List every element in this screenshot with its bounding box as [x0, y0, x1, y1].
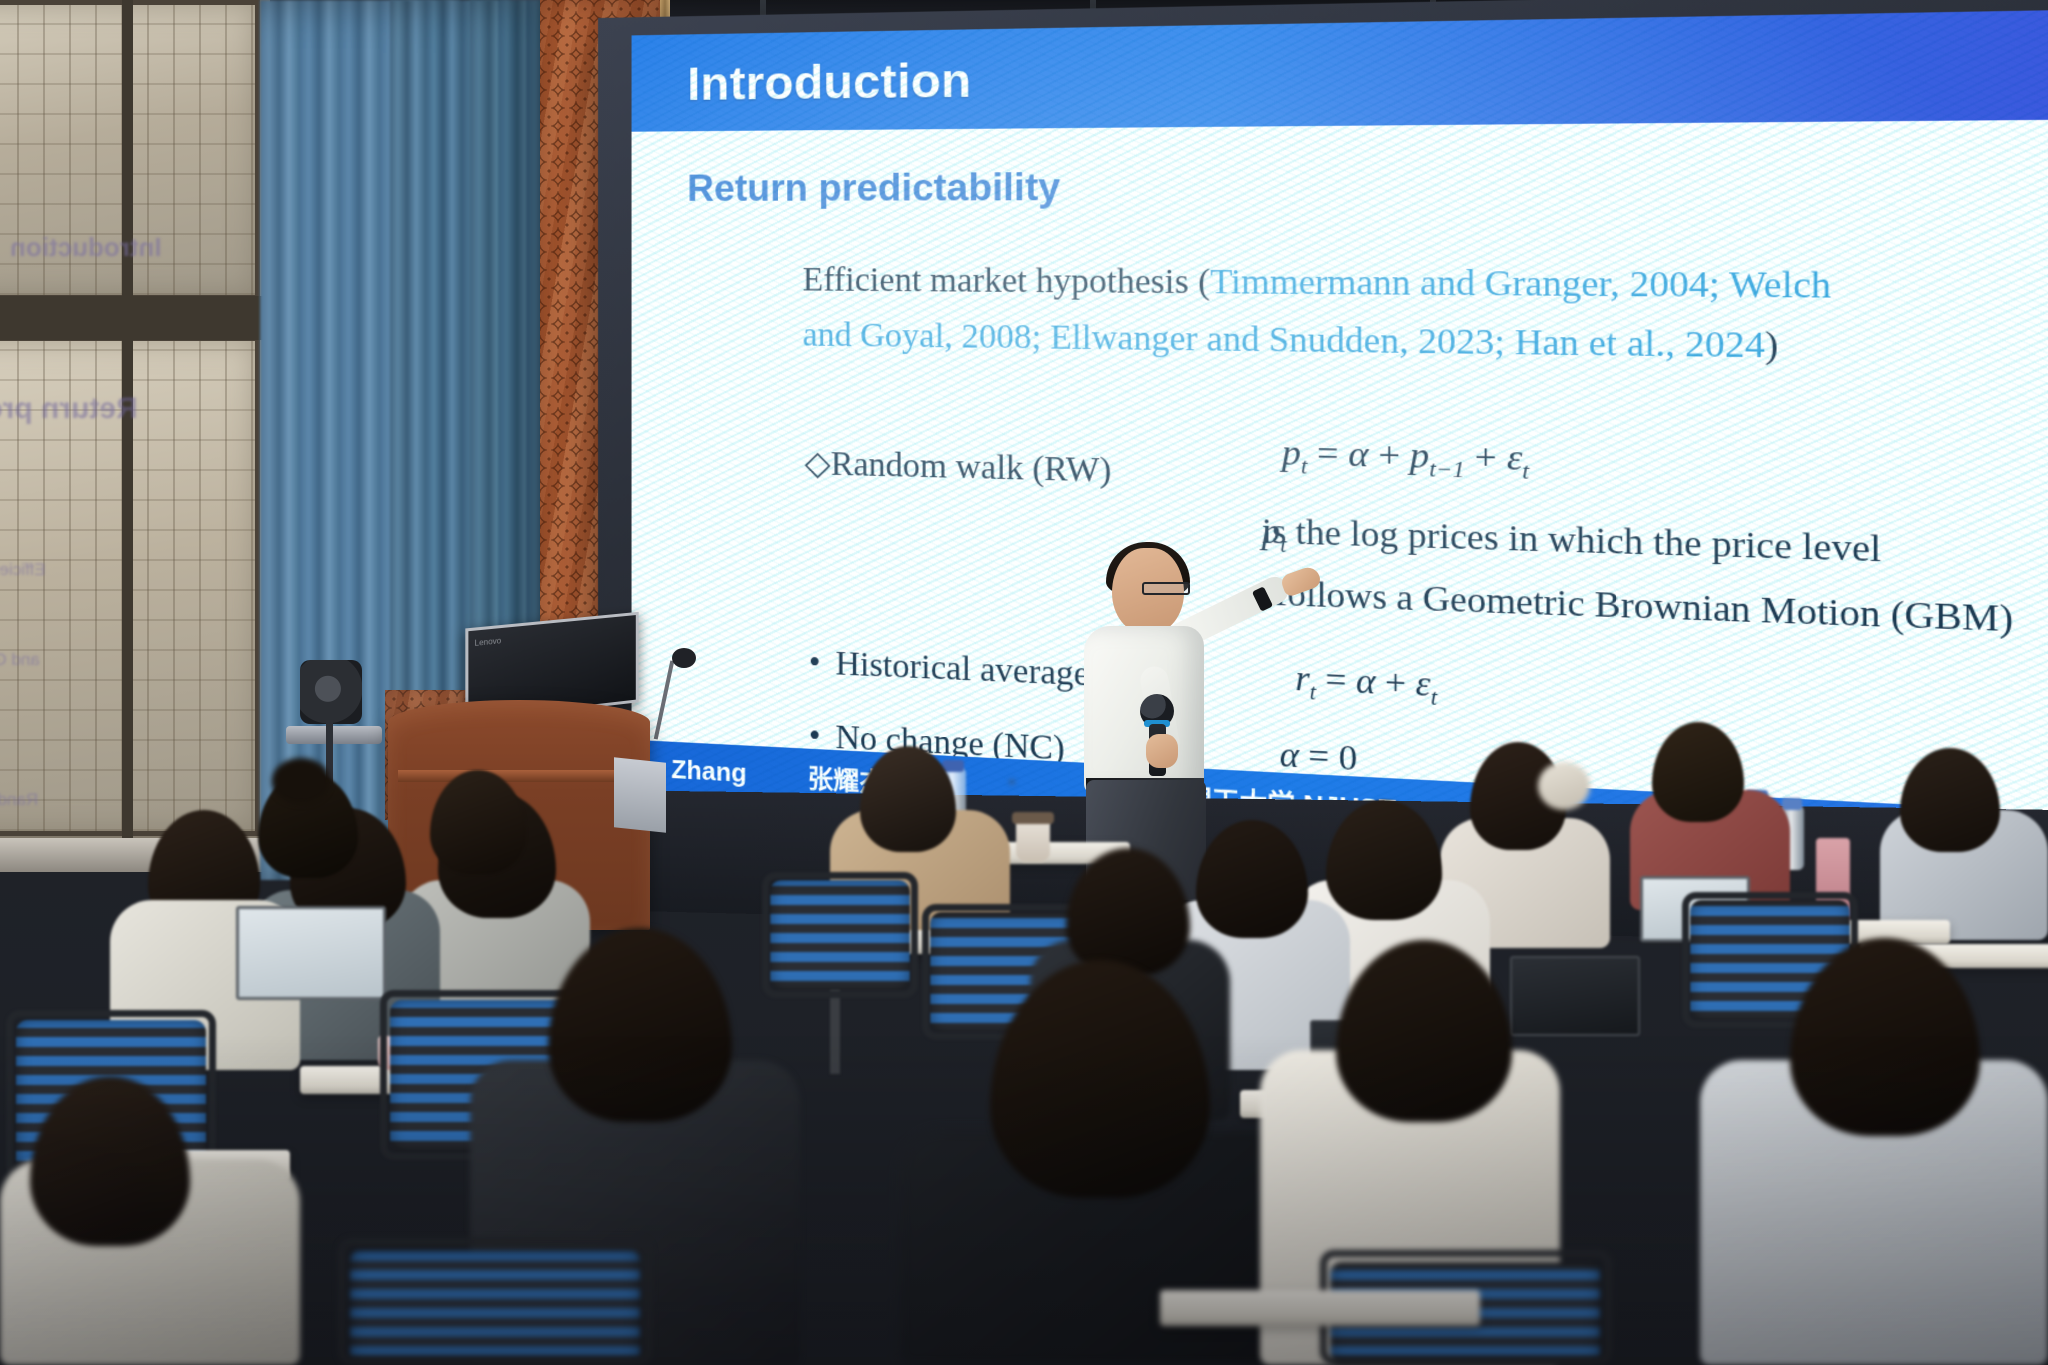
led-screen-bezel: Introduction Return predictability Effic… [598, 0, 2048, 915]
window-reflection-body-1: Efficien [0, 560, 45, 580]
laptop-left-1[interactable] [236, 906, 386, 1000]
gooseneck-mic-head [672, 648, 696, 668]
stage-light-fixture [300, 660, 362, 724]
chair-frame-mid-1 [762, 872, 918, 998]
window-mullion-vertical [122, 0, 133, 870]
lectern-shelf [398, 770, 642, 782]
lecture-hall-scene: Introduction Return pre Efficien and Go … [0, 0, 2048, 1365]
explanation-line-1: pt is the log prices in which the price … [1262, 505, 1882, 578]
presenter-mic-hand [1146, 734, 1178, 768]
foreground-laptop[interactable] [1010, 780, 1014, 784]
emh-text: Efficient market hypothesis ( [803, 262, 1210, 302]
footer-presenter-latin: Zhang [671, 755, 746, 788]
bullet-dot-icon: • [809, 645, 836, 684]
window-wall: Introduction Return pre Efficien and Go … [0, 0, 270, 870]
window-reflection-subhead: Return pre [0, 392, 138, 426]
explanation-line-2: follows a Geometric Brownian Motion (GBM… [1275, 568, 2013, 649]
coffee-cup-lid [1012, 812, 1054, 824]
hair-clip-r2 [1538, 762, 1590, 810]
citation-close-paren: ) [1765, 326, 1778, 366]
lectern-side-panel [614, 757, 666, 832]
random-walk-label: ◇Random walk (RW) [805, 442, 1112, 491]
window-reflection-body-2: and Go [0, 650, 40, 670]
equation-historical-average: rt = α + εt [1295, 660, 1437, 711]
paragraph-line-2: and Goyal, 2008; Ellwanger and Snudden, … [803, 310, 1779, 375]
coffee-cup-front [1016, 818, 1050, 862]
window-mullion-horizontal [0, 296, 270, 340]
presenter-glasses [1142, 582, 1190, 595]
window-reflection-title: Introduction [10, 232, 162, 263]
equation-random-walk: pt = α + pt−1 + εt [1282, 433, 1529, 485]
citation-line-2: and Goyal, 2008; Ellwanger and Snudden, … [803, 317, 1765, 366]
paragraph-line-1: Efficient market hypothesis (Timmermann … [803, 255, 1832, 315]
foreground-chair-frame-1 [338, 1238, 652, 1365]
window-reflection-body-3: Rando [0, 790, 38, 810]
presenter-figure [1050, 548, 1270, 868]
presentation-slide: Introduction Return predictability Effic… [632, 7, 2048, 887]
explanation-text-1: is the log prices in which the price lev… [1262, 513, 1882, 570]
hair-bun-l4 [272, 758, 330, 804]
water-bottle-cap-3 [1782, 798, 1802, 810]
citation-line-1: Timmermann and Granger, 2004; Welch [1210, 264, 1831, 307]
foreground-desk-right [1160, 1290, 1480, 1326]
monitor-brand-label: Lenovo [475, 636, 502, 648]
stage-light-tray [286, 726, 382, 744]
laptop-right-2[interactable] [1510, 956, 1640, 1036]
led-screen-display[interactable]: Introduction Return predictability Effic… [632, 7, 2048, 887]
